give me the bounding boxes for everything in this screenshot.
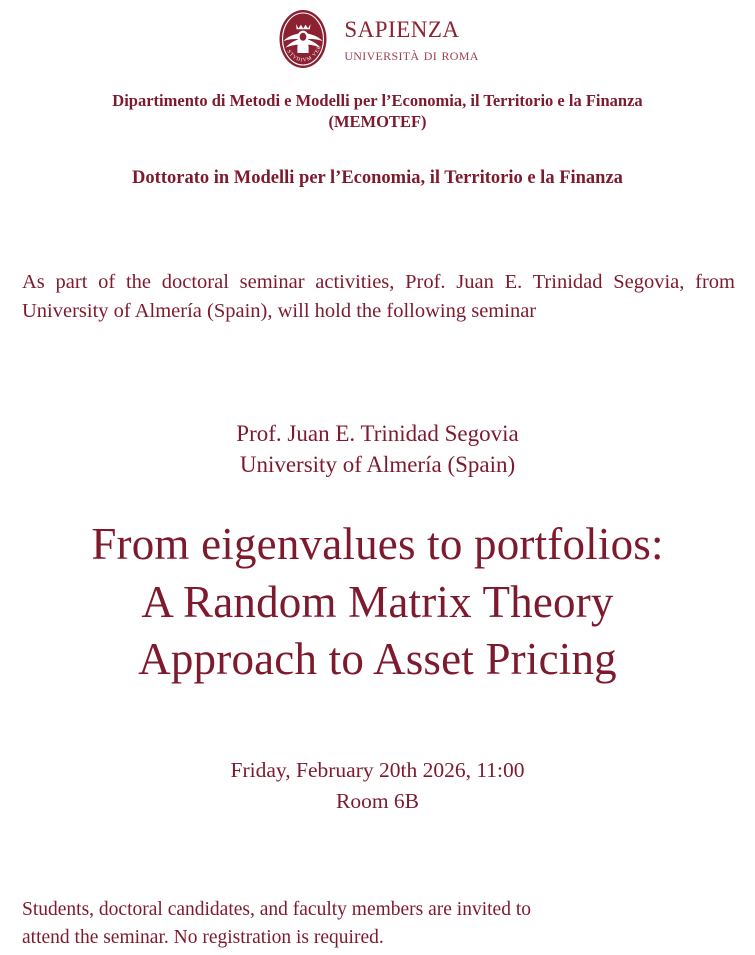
seminar-title-line-2: A Random Matrix Theory (0, 574, 755, 632)
speaker-affiliation: University of Almería (Spain) (0, 449, 755, 480)
wordmark-sub-text: Università di Roma (344, 46, 478, 65)
seminar-announcement-page: STVDIVM VERVS Sapienza Università di Rom… (0, 0, 755, 955)
event-details: Friday, February 20th 2026, 11:00 Room 6… (0, 755, 755, 816)
department-line-1: Dipartimento di Metodi e Modelli per l’E… (40, 90, 715, 111)
attendance-note: Students, doctoral candidates, and facul… (22, 896, 735, 953)
event-room: Room 6B (0, 786, 755, 817)
department-line-2: (MEMOTEF) (40, 111, 715, 132)
seminar-title-line-1: From eigenvalues to portfolios: (0, 516, 755, 574)
department-heading: Dipartimento di Metodi e Modelli per l’E… (0, 90, 755, 132)
seminar-title: From eigenvalues to portfolios: A Random… (0, 516, 755, 689)
wordmark-main-text: Sapienza (344, 11, 478, 44)
doctoral-program-heading: Dottorato in Modelli per l’Economia, il … (0, 168, 755, 189)
attendance-note-last: attend the seminar. No registration is r… (22, 924, 735, 952)
seminar-title-line-3: Approach to Asset Pricing (0, 631, 755, 689)
sapienza-masthead: STVDIVM VERVS Sapienza Università di Rom… (0, 0, 755, 70)
speaker-name: Prof. Juan E. Trinidad Segovia (0, 418, 755, 449)
sapienza-wordmark: Sapienza Università di Roma (344, 11, 478, 67)
intro-paragraph: As part of the doctoral seminar activiti… (22, 268, 735, 326)
attendance-note-main: Students, doctoral candidates, and facul… (22, 899, 531, 920)
event-datetime: Friday, February 20th 2026, 11:00 (0, 755, 755, 786)
sapienza-crest-icon: STVDIVM VERVS (276, 8, 330, 70)
speaker-block: Prof. Juan E. Trinidad Segovia Universit… (0, 418, 755, 480)
